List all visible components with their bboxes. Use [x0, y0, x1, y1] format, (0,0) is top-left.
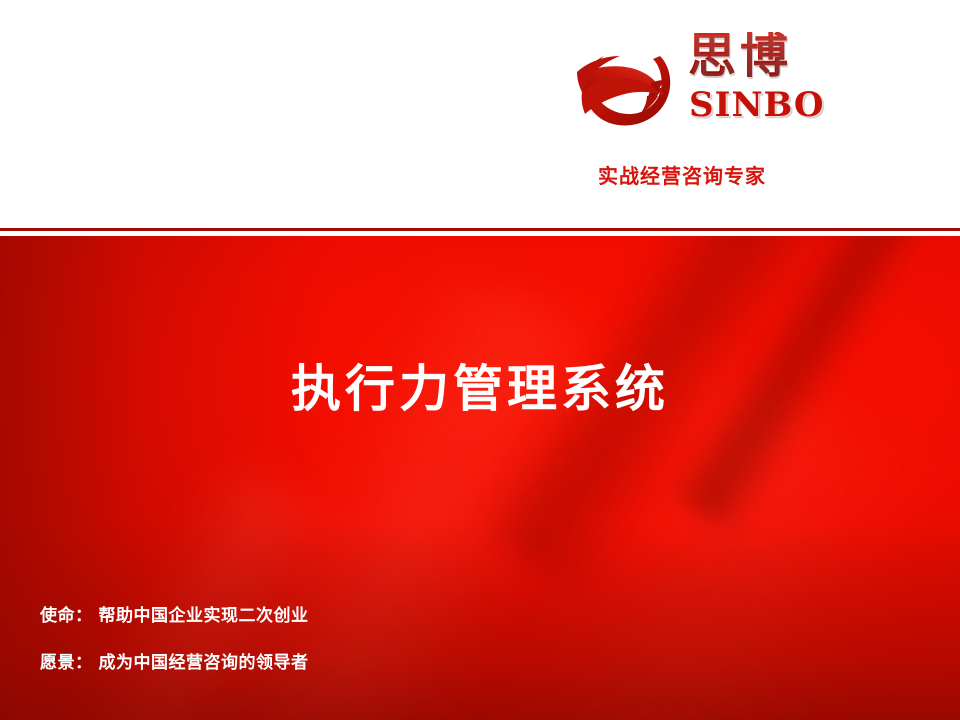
phoenix-swirl-icon — [568, 34, 686, 142]
brand-logo: 思博 SINBO — [560, 30, 870, 150]
slide-title: 执行力管理系统 — [0, 364, 960, 414]
presentation-slide: 思博 SINBO 实战经营咨询专家 执行力管理系统 使命：帮助中国企业实现二次创… — [0, 0, 960, 720]
mission-vision-block: 使命：帮助中国企业实现二次创业 愿景：成为中国经营咨询的领导者 — [40, 608, 640, 672]
mission-statement: 使命：帮助中国企业实现二次创业 — [40, 608, 640, 625]
logo-chinese-name: 思博 — [688, 32, 792, 80]
mission-label: 使命： — [40, 606, 93, 626]
vision-label: 愿景： — [40, 653, 93, 673]
logo-wordmark: 思博 SINBO — [686, 30, 866, 142]
title-panel: 执行力管理系统 使命：帮助中国企业实现二次创业 愿景：成为中国经营咨询的领导者 — [0, 236, 960, 720]
vision-text: 成为中国经营咨询的领导者 — [99, 653, 309, 673]
company-tagline: 实战经营咨询专家 — [598, 160, 766, 189]
vision-statement: 愿景：成为中国经营咨询的领导者 — [40, 655, 640, 672]
logo-english-name: SINBO — [689, 88, 825, 122]
slide-header: 思博 SINBO 实战经营咨询专家 — [0, 0, 960, 228]
mission-text: 帮助中国企业实现二次创业 — [99, 606, 309, 626]
